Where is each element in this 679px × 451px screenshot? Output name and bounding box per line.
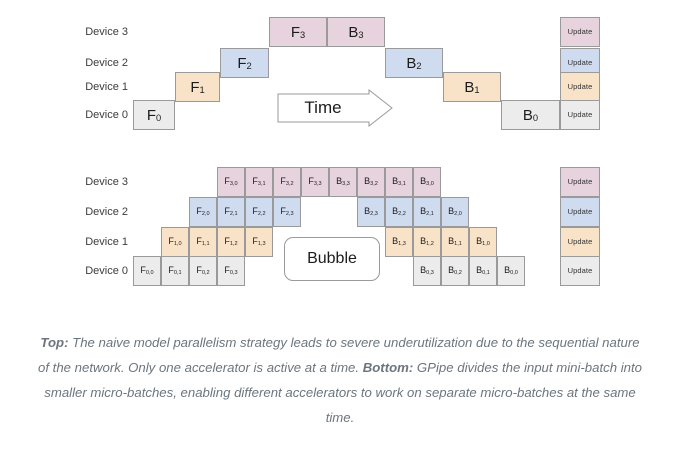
- device-label-device-0: Device 0: [58, 109, 128, 121]
- forward-cell-f0-1: F0,1: [161, 256, 189, 286]
- forward-cell-f3-2: F3,2: [273, 167, 301, 197]
- cell-label: B0: [523, 108, 538, 123]
- gpipe-figure: Device 3F3B3UpdateDevice 2F2B2UpdateDevi…: [0, 0, 679, 451]
- update-cell: Update: [560, 17, 600, 47]
- cell-label: F2,2: [252, 207, 265, 217]
- forward-cell-f0-2: F0,2: [189, 256, 217, 286]
- forward-cell-f0-3: F0,3: [217, 256, 245, 286]
- cell-label: F3,0: [224, 177, 237, 187]
- forward-cell-f3-3: F3,3: [301, 167, 329, 197]
- cell-label: B1,0: [476, 237, 490, 247]
- figure-caption: Top: The naive model parallelism strateg…: [36, 330, 644, 430]
- cell-label: B3,2: [364, 177, 378, 187]
- cell-label: B2: [406, 56, 421, 71]
- device-label-device-1: Device 1: [58, 236, 128, 248]
- time-arrow: Time: [277, 89, 393, 127]
- cell-label: F3,3: [308, 177, 321, 187]
- caption-bottom-bold: Bottom:: [363, 360, 414, 375]
- device-label-device-1: Device 1: [58, 81, 128, 93]
- cell-label: F3: [291, 25, 305, 40]
- cell-label: B0,2: [448, 266, 462, 276]
- forward-cell-f2-0: F2,0: [189, 197, 217, 227]
- cell-label: B2,3: [364, 207, 378, 217]
- forward-cell-f3: F3: [269, 17, 327, 47]
- cell-label: F2,3: [280, 207, 293, 217]
- update-cell: Update: [560, 100, 600, 130]
- backward-cell-b0-2: B0,2: [441, 256, 469, 286]
- cell-label: B1,2: [420, 237, 434, 247]
- cell-label: B0,0: [504, 266, 518, 276]
- forward-cell-f0-0: F0,0: [133, 256, 161, 286]
- forward-cell-f1-0: F1,0: [161, 227, 189, 257]
- backward-cell-b3-0: B3,0: [413, 167, 441, 197]
- backward-cell-b1-1: B1,1: [441, 227, 469, 257]
- backward-cell-b0-0: B0,0: [497, 256, 525, 286]
- cell-label: F0,1: [168, 266, 181, 276]
- time-arrow-label: Time: [277, 89, 369, 127]
- update-cell: Update: [560, 167, 600, 197]
- cell-label: B2,2: [392, 207, 406, 217]
- cell-label: B1,1: [448, 237, 462, 247]
- cell-label: Update: [568, 28, 593, 36]
- bubble-box: Bubble: [284, 237, 380, 281]
- backward-cell-b2: B2: [385, 48, 443, 78]
- forward-cell-f2: F2: [220, 48, 269, 78]
- forward-cell-f3-1: F3,1: [245, 167, 273, 197]
- device-label-device-2: Device 2: [58, 206, 128, 218]
- cell-label: B1: [464, 80, 479, 95]
- cell-label: F3,2: [280, 177, 293, 187]
- cell-label: F0,0: [140, 266, 153, 276]
- forward-cell-f2-1: F2,1: [217, 197, 245, 227]
- backward-cell-b3-1: B3,1: [385, 167, 413, 197]
- cell-label: B3,0: [420, 177, 434, 187]
- device-label-device-3: Device 3: [58, 26, 128, 38]
- backward-cell-b1-2: B1,2: [413, 227, 441, 257]
- backward-cell-b3-3: B3,3: [329, 167, 357, 197]
- backward-cell-b1-0: B1,0: [469, 227, 497, 257]
- cell-label: F1,3: [252, 237, 265, 247]
- cell-label: Update: [568, 208, 593, 216]
- caption-top-bold: Top:: [40, 335, 68, 350]
- cell-label: Update: [568, 59, 593, 67]
- forward-cell-f1: F1: [175, 72, 220, 102]
- cell-label: F0,2: [196, 266, 209, 276]
- cell-label: Update: [568, 238, 593, 246]
- cell-label: F3,1: [252, 177, 265, 187]
- update-cell: Update: [560, 72, 600, 102]
- forward-cell-f3-0: F3,0: [217, 167, 245, 197]
- cell-label: F1: [190, 80, 204, 95]
- cell-label: B2,0: [448, 207, 462, 217]
- cell-label: F1,0: [168, 237, 181, 247]
- cell-label: B0,3: [420, 266, 434, 276]
- cell-label: F2,0: [196, 207, 209, 217]
- cell-label: B2,1: [420, 207, 434, 217]
- forward-cell-f2-2: F2,2: [245, 197, 273, 227]
- device-label-device-0: Device 0: [58, 265, 128, 277]
- cell-label: B1,3: [392, 237, 406, 247]
- backward-cell-b1-3: B1,3: [385, 227, 413, 257]
- cell-label: F0,3: [224, 266, 237, 276]
- forward-cell-f1-2: F1,2: [217, 227, 245, 257]
- cell-label: B0,1: [476, 266, 490, 276]
- cell-label: F2: [237, 56, 251, 71]
- forward-cell-f2-3: F2,3: [273, 197, 301, 227]
- backward-cell-b2-2: B2,2: [385, 197, 413, 227]
- update-cell: Update: [560, 256, 600, 286]
- cell-label: F1,1: [196, 237, 209, 247]
- cell-label: Update: [568, 111, 593, 119]
- cell-label: Update: [568, 83, 593, 91]
- cell-label: F2,1: [224, 207, 237, 217]
- backward-cell-b0-1: B0,1: [469, 256, 497, 286]
- cell-label: B3,3: [336, 177, 350, 187]
- forward-cell-f0: F0: [133, 100, 175, 130]
- backward-cell-b2-0: B2,0: [441, 197, 469, 227]
- cell-label: B3,1: [392, 177, 406, 187]
- backward-cell-b3-2: B3,2: [357, 167, 385, 197]
- cell-label: F1,2: [224, 237, 237, 247]
- device-label-device-2: Device 2: [58, 57, 128, 69]
- backward-cell-b2-1: B2,1: [413, 197, 441, 227]
- cell-label: F0: [147, 108, 161, 123]
- cell-label: Update: [568, 178, 593, 186]
- forward-cell-f1-1: F1,1: [189, 227, 217, 257]
- device-label-device-3: Device 3: [58, 176, 128, 188]
- update-cell: Update: [560, 227, 600, 257]
- cell-label: Update: [568, 267, 593, 275]
- backward-cell-b3: B3: [327, 17, 385, 47]
- backward-cell-b1: B1: [443, 72, 501, 102]
- backward-cell-b0-3: B0,3: [413, 256, 441, 286]
- forward-cell-f1-3: F1,3: [245, 227, 273, 257]
- cell-label: B3: [348, 25, 363, 40]
- backward-cell-b2-3: B2,3: [357, 197, 385, 227]
- update-cell: Update: [560, 197, 600, 227]
- backward-cell-b0: B0: [501, 100, 560, 130]
